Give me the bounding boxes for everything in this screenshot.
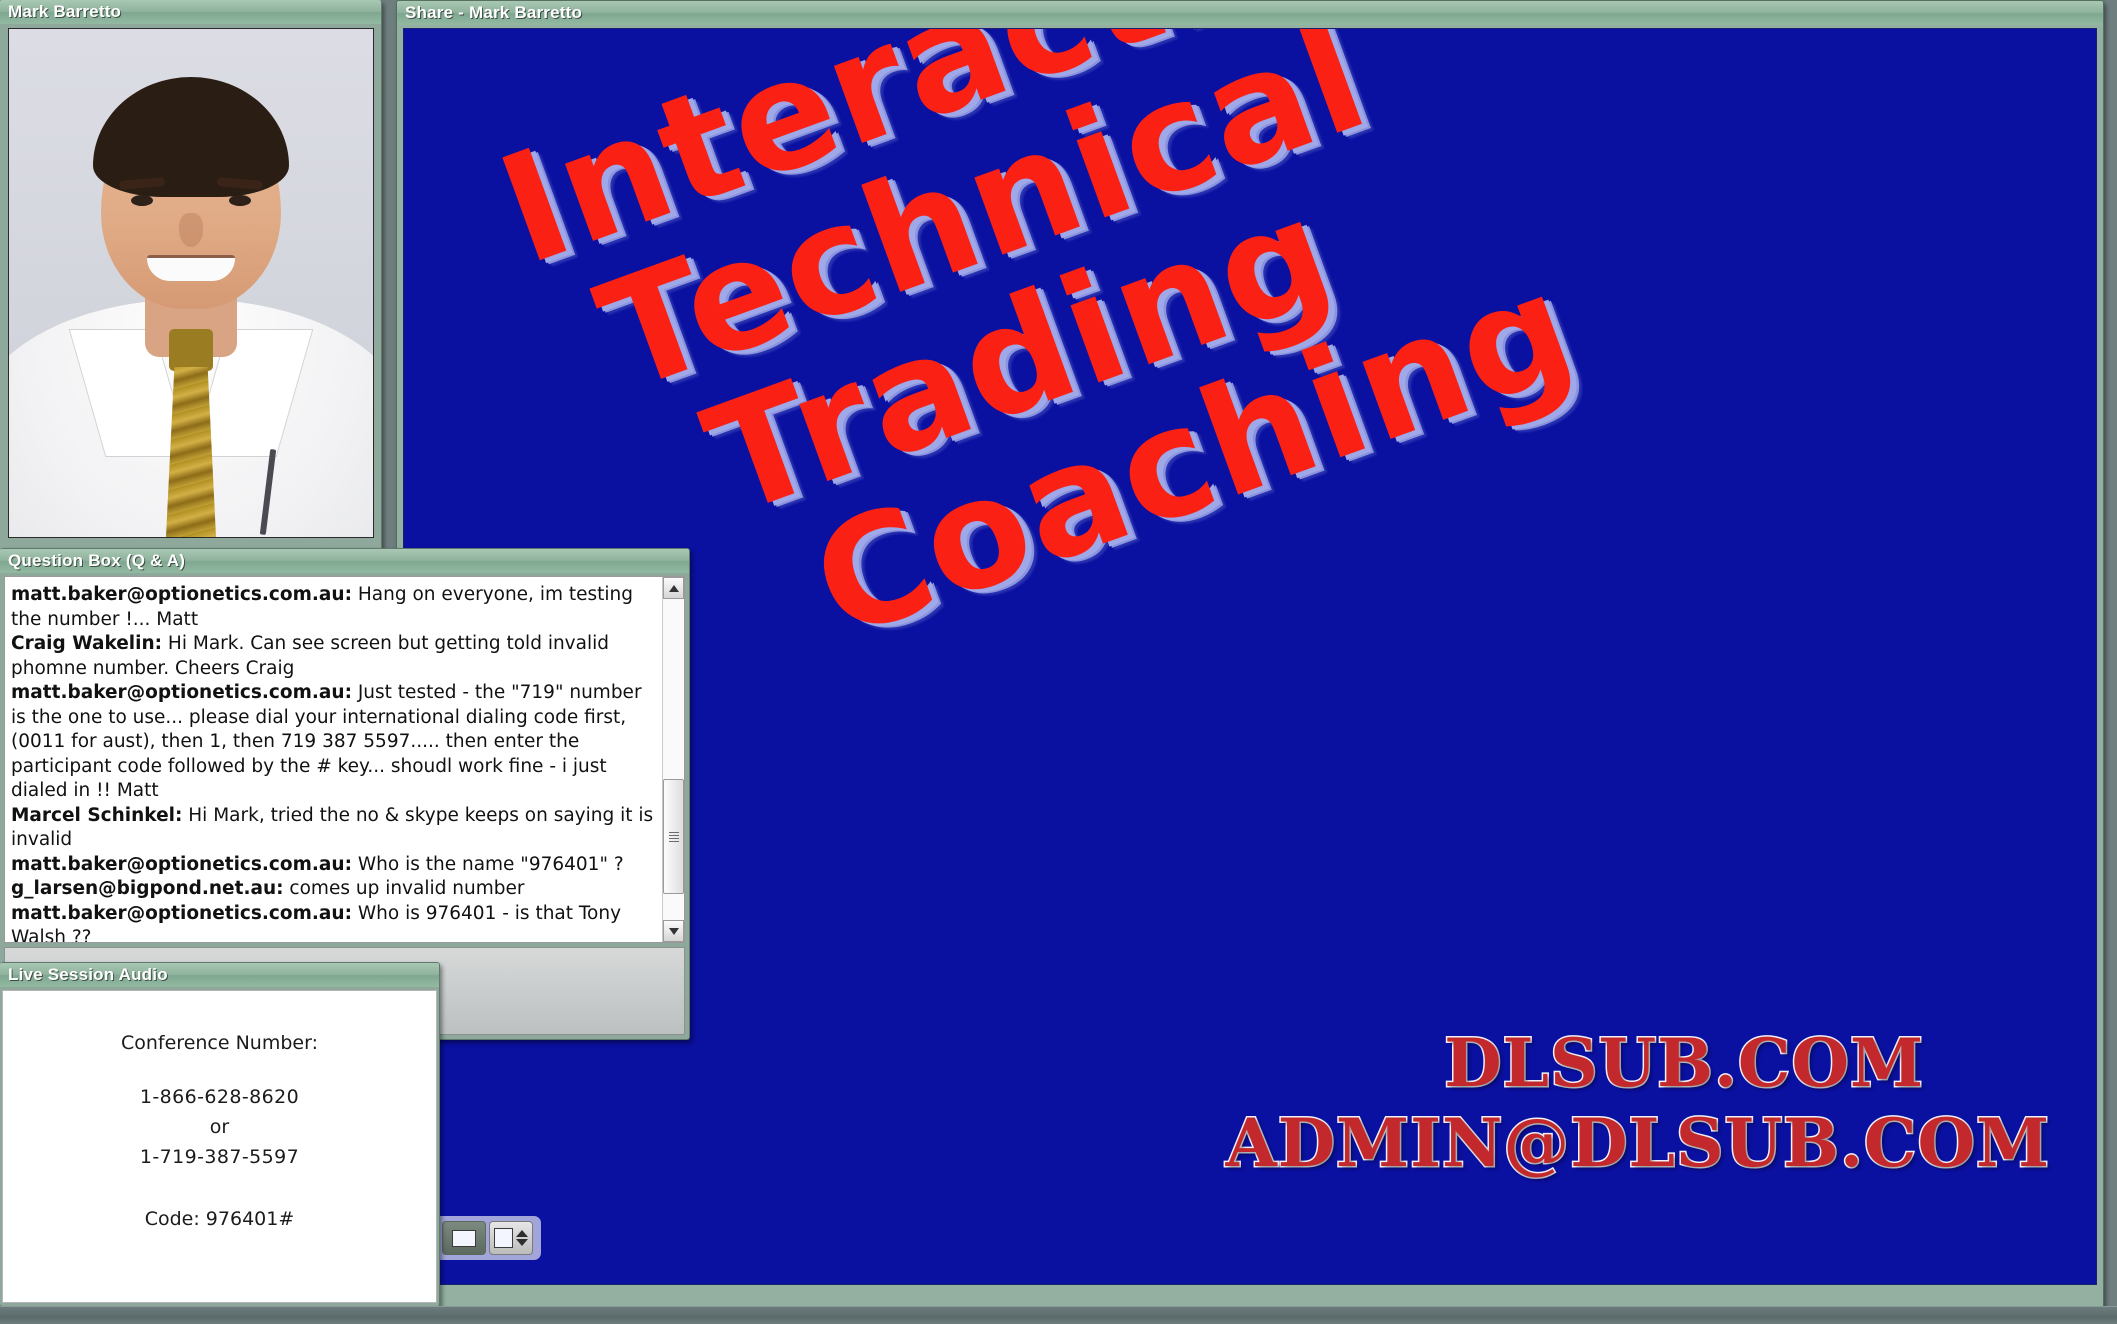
message-text: Who is the name "976401" ?: [352, 854, 624, 875]
application-window: Share - Mark Barretto Interactive Techni…: [0, 0, 2117, 1324]
conference-number-separator: or: [3, 1113, 436, 1141]
question-box-messages[interactable]: matt.baker@optionetics.com.au: Hang on e…: [5, 577, 662, 942]
scrollbar-track[interactable]: [663, 599, 684, 920]
webcam-video[interactable]: [8, 28, 374, 538]
list-item: g_larsen@bigpond.net.au: comes up invali…: [11, 877, 654, 902]
desktop-taskbar[interactable]: [0, 1306, 2117, 1324]
message-sender: Craig Wakelin:: [11, 633, 162, 654]
share-panel-title: Share - Mark Barretto: [397, 1, 2103, 25]
grip-icon: [669, 832, 679, 842]
watermark-email: ADMIN@DLSUB.COM: [1226, 1103, 2050, 1184]
watermark: DLSUB.COM ADMIN@DLSUB.COM: [1226, 1023, 2050, 1184]
list-item: matt.baker@optionetics.com.au: Who is th…: [11, 853, 654, 878]
scroll-up-button[interactable]: [663, 577, 684, 599]
list-item: Marcel Schinkel: Hi Mark, tried the no &…: [11, 804, 654, 853]
window-icon: [494, 1228, 513, 1248]
message-sender: matt.baker@optionetics.com.au:: [11, 903, 352, 924]
list-item: matt.baker@optionetics.com.au: Hang on e…: [11, 583, 654, 632]
question-box-body: matt.baker@optionetics.com.au: Hang on e…: [4, 576, 685, 943]
conference-number-secondary: 1-719-387-5597: [3, 1143, 436, 1171]
message-sender: matt.baker@optionetics.com.au:: [11, 854, 352, 875]
question-box-scrollbar[interactable]: [662, 577, 684, 942]
list-item: matt.baker@optionetics.com.au: Just test…: [11, 681, 654, 804]
list-item: matt.baker@optionetics.com.au: Who is 97…: [11, 902, 654, 943]
share-toolbar[interactable]: [434, 1216, 541, 1260]
triangle-down-icon: [669, 928, 679, 935]
presenter-portrait: [9, 29, 373, 537]
message-sender: g_larsen@bigpond.net.au:: [11, 878, 284, 899]
message-sender: matt.baker@optionetics.com.au:: [11, 682, 352, 703]
scrollbar-thumb[interactable]: [663, 779, 684, 895]
watermark-site: DLSUB.COM: [1226, 1023, 1924, 1104]
message-sender: matt.baker@optionetics.com.au:: [11, 584, 352, 605]
chevron-up-icon: [516, 1230, 528, 1237]
conference-number-label: Conference Number:: [3, 1029, 436, 1057]
scroll-region-button[interactable]: [489, 1221, 533, 1255]
message-sender: Marcel Schinkel:: [11, 805, 182, 826]
conference-access-code: Code: 976401#: [3, 1205, 436, 1233]
share-screen-button[interactable]: [442, 1221, 486, 1255]
scroll-down-button[interactable]: [663, 920, 684, 942]
live-session-audio-title: Live Session Audio: [0, 963, 439, 987]
conference-number-primary: 1-866-628-8620: [3, 1083, 436, 1111]
live-session-audio-body: Conference Number: 1-866-628-8620 or 1-7…: [2, 990, 437, 1303]
question-box-title: Question Box (Q & A): [0, 549, 689, 573]
message-text: comes up invalid number: [284, 878, 525, 899]
list-item: Craig Wakelin: Hi Mark. Can see screen b…: [11, 632, 654, 681]
live-session-audio-panel: Live Session Audio Conference Number: 1-…: [0, 962, 440, 1307]
chevron-down-icon: [516, 1239, 528, 1246]
scroll-spinner-icon: [516, 1230, 528, 1246]
triangle-up-icon: [669, 585, 679, 592]
webcam-panel: Mark Barretto: [0, 0, 382, 553]
monitor-icon: [452, 1230, 476, 1247]
webcam-panel-title: Mark Barretto: [0, 0, 381, 24]
